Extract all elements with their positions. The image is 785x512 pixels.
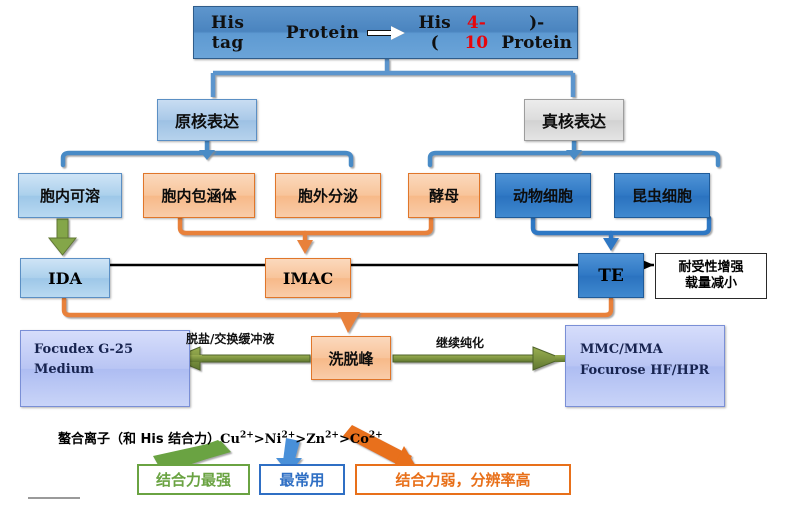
node-te[interactable]: TE bbox=[578, 253, 644, 298]
insect-cell-label: 昆虫细胞 bbox=[632, 185, 692, 206]
node-eukaryotic-expression[interactable]: 真核表达 bbox=[524, 99, 624, 141]
animal-cell-label: 动物细胞 bbox=[513, 185, 573, 206]
prokaryotic-label: 原核表达 bbox=[175, 108, 239, 132]
eukaryotic-label: 真核表达 bbox=[542, 108, 606, 132]
arrow-te-down bbox=[603, 238, 619, 251]
stub-left bbox=[190, 355, 202, 362]
tag-most-common[interactable]: 最常用 bbox=[259, 464, 345, 495]
protein-label: Protein bbox=[286, 23, 359, 43]
node-imac[interactable]: IMAC bbox=[265, 258, 351, 298]
node-insect-cell[interactable]: 昆虫细胞 bbox=[614, 173, 710, 218]
note-tolerance-capacity: 耐受性增强 载量减小 bbox=[655, 253, 767, 299]
his-tag-label: His tag bbox=[194, 13, 261, 53]
bracket-to-elution bbox=[64, 299, 611, 322]
node-extracellular-secretion[interactable]: 胞外分泌 bbox=[275, 173, 381, 218]
bracket-to-te bbox=[533, 218, 709, 241]
mmc-line2: Focurose HF/HPR bbox=[580, 361, 709, 382]
elution-peak-label: 洗脱峰 bbox=[328, 348, 373, 369]
arrow-imac-down bbox=[297, 240, 313, 254]
note-line1: 耐受性增强 bbox=[678, 260, 743, 276]
imac-label: IMAC bbox=[283, 269, 333, 288]
mmc-line1: MMC/MMA bbox=[580, 340, 663, 361]
focudex-line1: Focudex G-25 bbox=[34, 340, 133, 360]
node-intracellular-soluble[interactable]: 胞内可溶 bbox=[18, 173, 122, 218]
strongest-label: 结合力最强 bbox=[156, 469, 231, 490]
bracket-top-split bbox=[213, 59, 573, 97]
chelation-prefix: 螯合离子（和 His 结合力） bbox=[58, 432, 220, 447]
extracellular-secretion-label: 胞外分泌 bbox=[298, 185, 358, 206]
inclusion-body-label: 胞内包涵体 bbox=[161, 185, 236, 206]
top-banner: His tag Protein His (4-10)-Protein bbox=[193, 6, 578, 59]
intracellular-soluble-label: 胞内可溶 bbox=[40, 185, 100, 206]
bracket-to-imac bbox=[180, 218, 431, 243]
tag-weak-binding-high-resolution[interactable]: 结合力弱，分辨率高 bbox=[355, 464, 571, 495]
result-range: 4-10 bbox=[456, 13, 496, 53]
chelation-series-text: 螯合离子（和 His 结合力）Cu2+>Ni2+>Zn2+>Co2+ bbox=[58, 428, 383, 447]
node-ida[interactable]: IDA bbox=[20, 258, 110, 298]
arrow-soluble-to-ida bbox=[49, 219, 76, 255]
node-inclusion-body[interactable]: 胞内包涵体 bbox=[143, 173, 255, 218]
result-suffix: )-Protein bbox=[496, 13, 577, 53]
node-elution-peak[interactable]: 洗脱峰 bbox=[311, 336, 391, 380]
te-label: TE bbox=[598, 266, 624, 286]
chelation-ions: Cu2+>Ni2+>Zn2+>Co2+ bbox=[220, 432, 383, 447]
corner-divider bbox=[28, 497, 80, 499]
focudex-line2: Medium bbox=[34, 360, 94, 380]
node-animal-cell[interactable]: 动物细胞 bbox=[495, 173, 591, 218]
note-line2: 载量减小 bbox=[685, 276, 737, 292]
node-mmc-mma[interactable]: MMC/MMA Focurose HF/HPR bbox=[565, 325, 725, 407]
tag-strongest-binding[interactable]: 结合力最强 bbox=[137, 464, 250, 495]
result-prefix: His ( bbox=[413, 13, 456, 53]
right-arrow-icon bbox=[367, 27, 405, 39]
weak-high-res-label: 结合力弱，分辨率高 bbox=[395, 469, 530, 490]
node-focudex-g25[interactable]: Focudex G-25 Medium bbox=[20, 330, 190, 407]
yeast-label: 酵母 bbox=[429, 185, 459, 206]
most-common-label: 最常用 bbox=[279, 469, 324, 490]
arrow-elution-down bbox=[338, 312, 360, 333]
node-prokaryotic-expression[interactable]: 原核表达 bbox=[157, 99, 257, 141]
ida-label: IDA bbox=[48, 269, 82, 288]
edge-label-continue-purification: 继续纯化 bbox=[436, 334, 484, 351]
edge-label-desalting: 脱盐/交换缓冲液 bbox=[186, 330, 274, 347]
node-yeast[interactable]: 酵母 bbox=[408, 173, 480, 218]
